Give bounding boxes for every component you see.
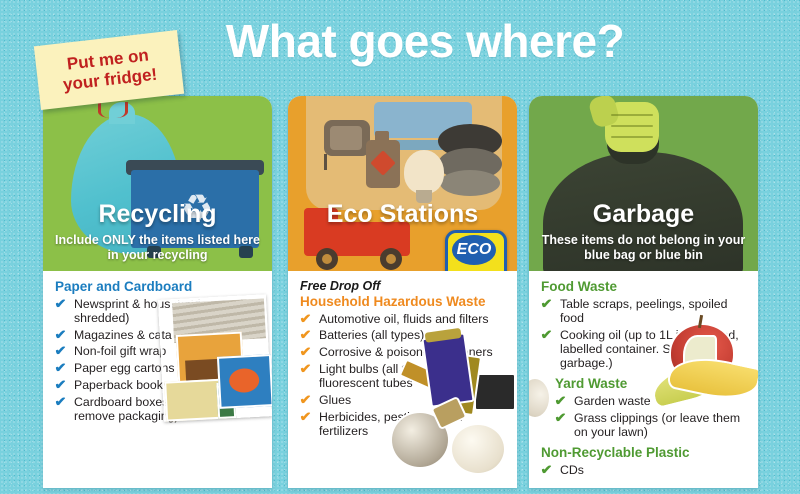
sticky-note-text: Put me on your fridge! xyxy=(60,45,158,96)
list-item: ✔Automotive oil, fluids and filters xyxy=(300,312,507,326)
hand-knuckle-3 xyxy=(611,136,653,138)
card-recycling-body: Paper and Cardboard ✔Newsprint & househo… xyxy=(43,271,272,488)
list-item-label: Paper egg cartons xyxy=(74,361,175,375)
truck-wheel-right xyxy=(380,248,402,270)
check-icon: ✔ xyxy=(299,409,311,424)
check-icon: ✔ xyxy=(299,361,311,376)
card-recycling-header: ♻ Recycling Include ONLY the items liste… xyxy=(43,96,272,271)
tire-icon-3 xyxy=(440,170,500,196)
check-icon: ✔ xyxy=(54,360,66,375)
eco-badge-top-text: ECO xyxy=(452,235,496,265)
list-non-recyclable-plastic: ✔CDs xyxy=(541,463,748,477)
check-icon: ✔ xyxy=(54,394,66,409)
photo-paper-stack xyxy=(158,294,272,421)
card-eco-stations-header: Eco Stations ECO station xyxy=(288,96,517,271)
list-item: ✔Table scraps, peelings, spoiled food xyxy=(541,297,748,326)
check-icon: ✔ xyxy=(554,393,566,408)
flammable-hazard-icon xyxy=(370,150,395,175)
list-item-label: Table scraps, peelings, spoiled food xyxy=(560,297,727,325)
check-icon: ✔ xyxy=(54,377,66,392)
section-heading-household-hazardous-waste: Household Hazardous Waste xyxy=(300,294,507,310)
old-tv-icon xyxy=(324,120,370,156)
photo-fruit-scraps xyxy=(647,323,758,429)
light-bulb-icon xyxy=(404,150,444,194)
bag-tie-icon xyxy=(98,102,128,118)
card-garbage-subtitle: These items do not belong in your blue b… xyxy=(539,233,748,264)
card-recycling[interactable]: ♻ Recycling Include ONLY the items liste… xyxy=(43,96,272,488)
check-icon: ✔ xyxy=(299,344,311,359)
section-pre-free-drop-off: Free Drop Off xyxy=(300,279,507,293)
check-icon: ✔ xyxy=(299,392,311,407)
card-recycling-title: Recycling xyxy=(43,200,272,229)
check-icon: ✔ xyxy=(54,343,66,358)
section-heading-non-recyclable-plastic: Non-Recyclable Plastic xyxy=(541,445,748,461)
check-icon: ✔ xyxy=(54,296,66,311)
truck-wheel-left xyxy=(316,248,338,270)
page-title: What goes where? xyxy=(190,18,660,64)
check-icon: ✔ xyxy=(299,327,311,342)
light-bulb-photo-2 xyxy=(450,423,506,475)
card-garbage[interactable]: Garbage These items do not belong in you… xyxy=(529,96,758,488)
list-item-label: Automotive oil, fluids and filters xyxy=(319,312,489,326)
blue-box xyxy=(217,354,272,409)
section-heading-food-waste: Food Waste xyxy=(541,279,748,295)
hand-icon xyxy=(605,102,659,152)
card-eco-stations[interactable]: Eco Stations ECO station Free Drop Off H… xyxy=(288,96,517,488)
card-garbage-header: Garbage These items do not belong in you… xyxy=(529,96,758,271)
list-item-label: CDs xyxy=(560,463,584,477)
photo-light-bulbs xyxy=(384,393,512,473)
check-icon: ✔ xyxy=(554,410,566,425)
check-icon: ✔ xyxy=(540,327,552,342)
card-recycling-subtitle: Include ONLY the items listed here in yo… xyxy=(53,233,262,264)
card-garbage-body: Food Waste ✔Table scraps, peelings, spoi… xyxy=(529,271,758,488)
list-item-label: Non-foil gift wrap xyxy=(74,344,166,358)
list-item: ✔CDs xyxy=(541,463,748,477)
photo-bulb-bleed xyxy=(529,377,551,419)
card-eco-stations-title: Eco Stations xyxy=(288,200,517,229)
section-heading-paper-and-cardboard: Paper and Cardboard xyxy=(55,279,262,295)
list-item-label: Paperback books xyxy=(74,378,169,392)
hand-knuckle-2 xyxy=(611,125,653,127)
check-icon: ✔ xyxy=(299,311,311,326)
check-icon: ✔ xyxy=(540,462,552,477)
oil-jug-icon xyxy=(366,140,400,188)
check-icon: ✔ xyxy=(54,327,66,342)
hand-knuckle-1 xyxy=(611,114,653,116)
list-item-label: Glues xyxy=(319,393,351,407)
list-item-label: Garden waste xyxy=(574,394,651,408)
eco-station-badge: ECO station xyxy=(445,230,507,271)
check-icon: ✔ xyxy=(540,296,552,311)
card-eco-stations-body: Free Drop Off Household Hazardous Waste … xyxy=(288,271,517,488)
card-garbage-title: Garbage xyxy=(529,200,758,229)
